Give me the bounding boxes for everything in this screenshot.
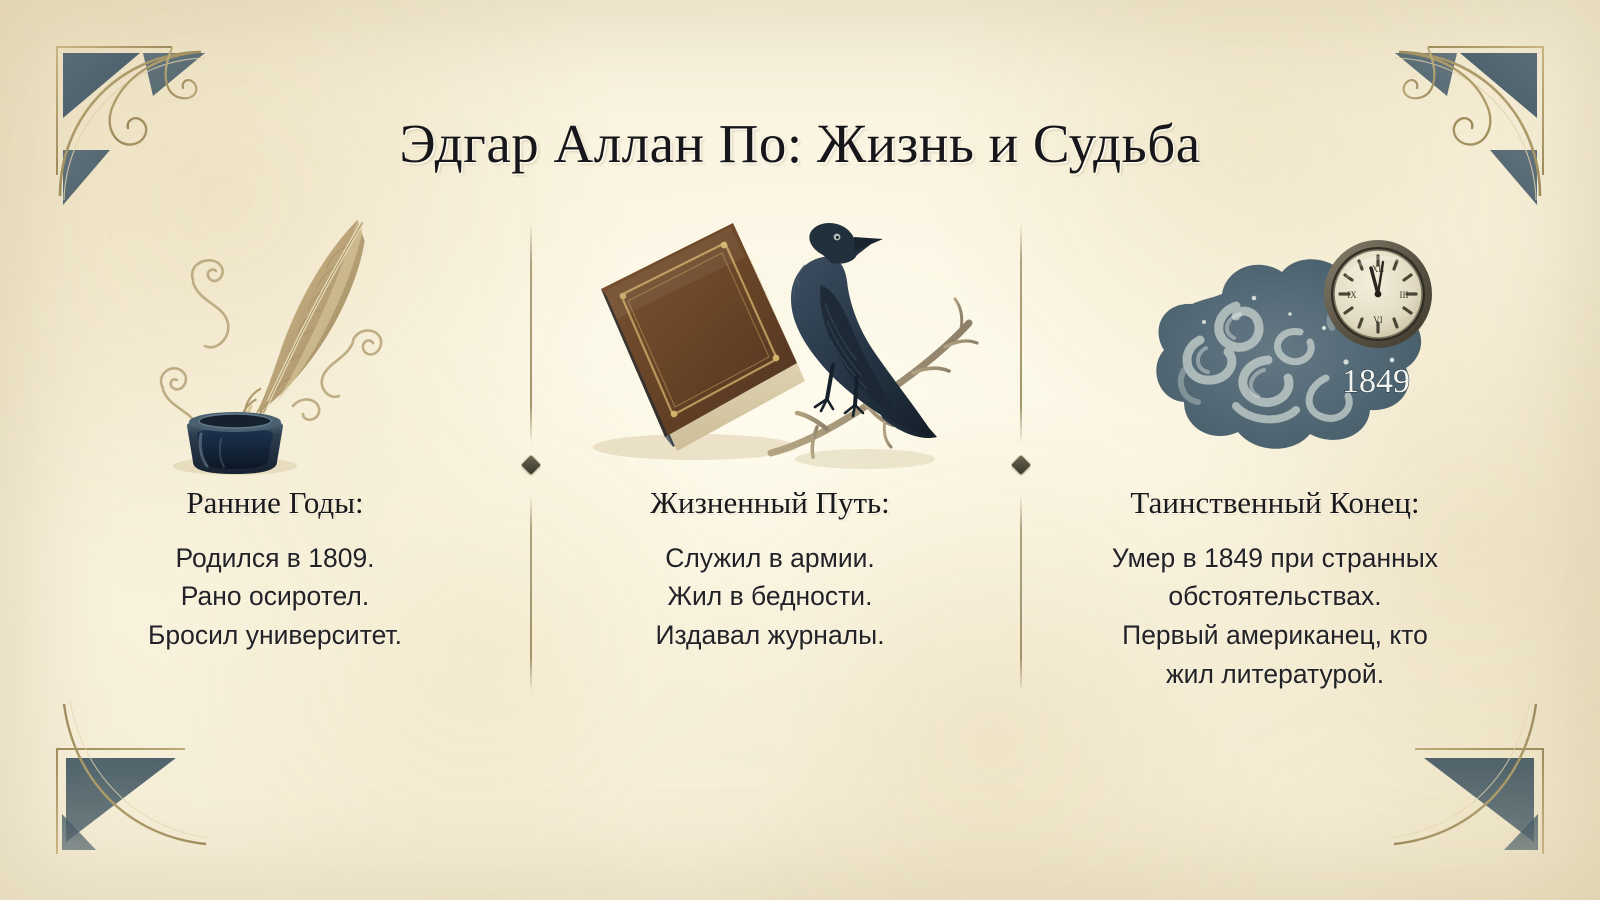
column-body-early-years: Родился в 1809. Рано осиротел. Бросил ун… [60,539,490,655]
art-slot [60,210,490,485]
body-line: Первый американец, кто [1045,616,1505,655]
body-line: Родился в 1809. [60,539,490,578]
body-line: Издавал журналы. [555,616,985,655]
column-body-life-path: Служил в армии. Жил в бедности. Издавал … [555,539,985,655]
column-mysterious-end: XII III VI IX 1849 [1045,210,1505,693]
body-line: Бросил университет. [60,616,490,655]
body-line: Умер в 1849 при странных [1045,539,1505,578]
column-heading-mysterious-end: Таинственный Конец: [1045,485,1505,521]
body-line: Рано осиротел. [60,577,490,616]
body-line: жил литературой. [1045,655,1505,694]
body-line: Жил в бедности. [555,577,985,616]
column-life-path: Жизненный Путь: Служил в армии. Жил в бе… [555,210,985,655]
year-label: 1849 [1342,363,1410,400]
art-slot [555,210,985,485]
svg-text:XII: XII [1372,264,1385,274]
quill-and-inkwell-icon [125,210,425,480]
raven-figure [791,223,937,438]
svg-text:IX: IX [1347,290,1357,300]
body-line: Служил в армии. [555,539,985,578]
poster-canvas: Эдгар Аллан По: Жизнь и Судьба [0,0,1600,900]
antique-clock-face: XII III VI IX [1324,240,1432,348]
mist-clock-icon: XII III VI IX 1849 [1140,210,1460,478]
column-heading-early-years: Ранние Годы: [60,485,490,521]
book-and-raven-icon [565,215,985,480]
body-line: обстоятельствах. [1045,577,1505,616]
column-body-mysterious-end: Умер в 1849 при странных обстоятельствах… [1045,539,1505,694]
art-slot: XII III VI IX 1849 [1045,210,1505,485]
svg-text:VI: VI [1373,315,1383,325]
svg-text:III: III [1400,290,1409,300]
page-title: Эдгар Аллан По: Жизнь и Судьба [0,115,1600,173]
column-heading-life-path: Жизненный Путь: [555,485,985,521]
column-early-years: Ранние Годы: Родился в 1809. Рано осирот… [60,210,490,655]
